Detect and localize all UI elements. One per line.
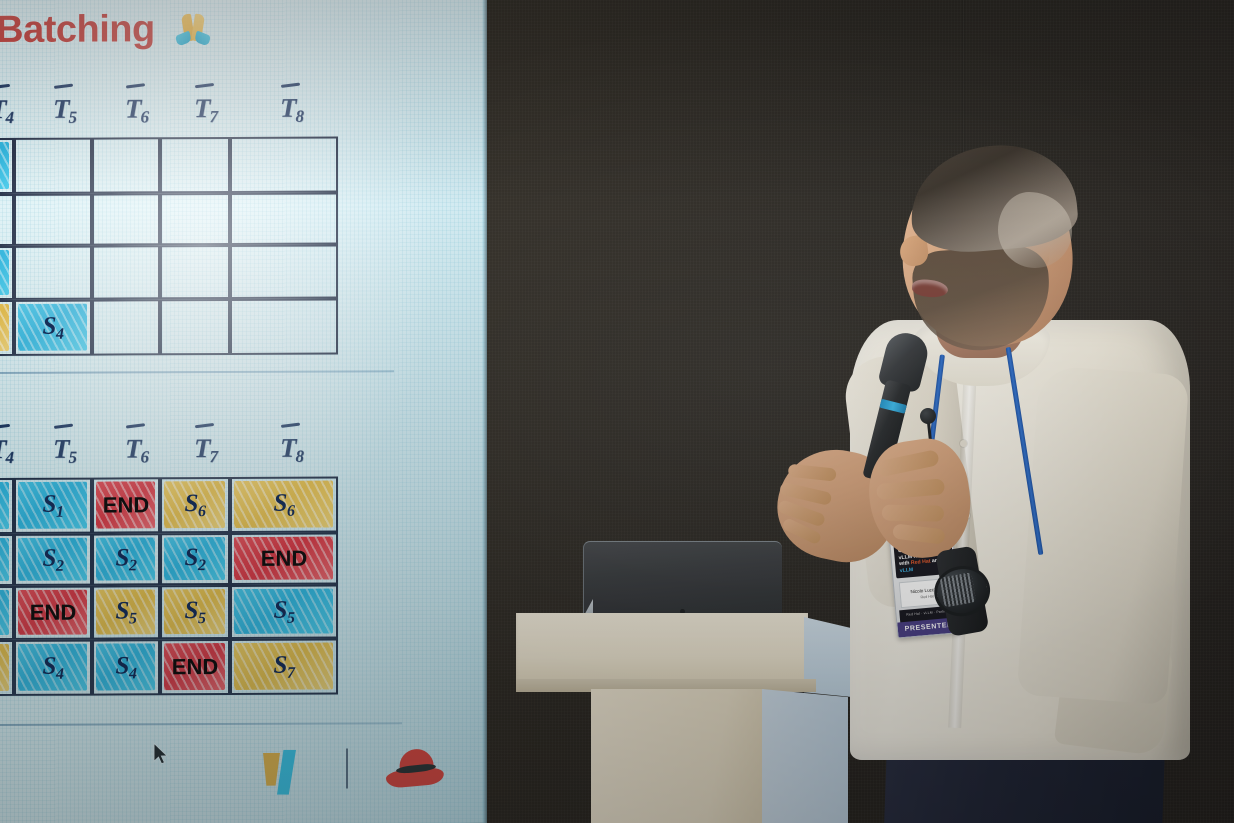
cell-label: S2: [185, 544, 206, 575]
top-table: S3 S4 S4: [0, 136, 372, 348]
cell-label: S4: [116, 652, 137, 683]
column-header-t5: T5: [53, 94, 77, 128]
table-cell: S4: [14, 300, 92, 356]
table-cell: S3: [0, 246, 14, 300]
cell-label: END: [103, 492, 149, 518]
slide-divider: [0, 370, 394, 374]
table-cell: [160, 245, 230, 299]
table-cell: S3: [0, 586, 14, 640]
cell-label: S6: [274, 489, 295, 520]
column-header-t8: T8: [280, 93, 304, 127]
praying-hands-icon: [173, 12, 213, 48]
table-cell: S2: [14, 534, 92, 586]
table-cell: S1: [14, 478, 92, 534]
projection-screen: ative Batching T4 T5 T6 T7 T8: [0, 0, 487, 823]
table-cell: S2: [0, 534, 14, 586]
table-cell: S6: [160, 477, 230, 533]
cell-label: END: [30, 600, 76, 626]
cell-label: S6: [185, 490, 206, 521]
table-cell: END: [230, 533, 338, 585]
column-header-t4: T4: [0, 94, 14, 128]
column-header-t6: T6: [125, 93, 149, 127]
table-cell: S4: [0, 300, 14, 356]
column-header-t6: T6: [125, 433, 149, 467]
column-header-t7: T7: [194, 433, 218, 467]
table-cell: [0, 478, 14, 534]
smartwatch: [922, 548, 1003, 631]
cell-label: S5: [116, 597, 137, 628]
presenter-laptop: [583, 541, 782, 619]
table-cell: [14, 138, 92, 194]
table-cell: [160, 193, 230, 245]
cell-label: S4: [43, 312, 64, 343]
screenshot-root: ative Batching T4 T5 T6 T7 T8: [0, 0, 1234, 823]
table-cell: [230, 193, 338, 245]
column-header-t8: T8: [280, 433, 304, 467]
cell-label: S2: [43, 544, 64, 575]
logo-separator: [346, 748, 348, 788]
table-cell: S4: [92, 639, 160, 695]
table-cell: [230, 299, 338, 355]
cell-label: S1: [43, 490, 64, 521]
table-cell: S6: [230, 477, 338, 533]
table-cell: [230, 245, 338, 299]
bottom-table-header-row: T4 T5 T6 T7 T8: [0, 432, 398, 478]
slide-title-text: ative Batching: [0, 8, 155, 51]
table-cell: S5: [160, 585, 230, 639]
top-table-header-row: T4 T5 T6 T7 T8: [0, 92, 398, 138]
cell-label: END: [261, 546, 307, 572]
table-cell: [92, 245, 160, 299]
table-cell: [14, 246, 92, 300]
table-cell: END: [14, 586, 92, 640]
table-cell: [230, 137, 338, 193]
table-cell: S5: [230, 585, 338, 639]
table-cell: S5: [92, 585, 160, 639]
table-cell: S7: [230, 639, 338, 695]
bottom-table: S1 END S6 S6 S2 S2 S2 S2 END S3 END S5 S…: [0, 476, 372, 693]
screen-right-edge: [483, 0, 487, 823]
cell-label: S7: [274, 651, 295, 682]
cell-label: S2: [116, 544, 137, 575]
cell-label: S5: [185, 597, 206, 628]
table-cell: S2: [92, 533, 160, 585]
cell-label: S4: [43, 652, 64, 683]
table-cell: [92, 193, 160, 245]
table-cell: [160, 299, 230, 355]
lapel-microphone-icon: [920, 408, 936, 424]
slide-title: ative Batching: [0, 8, 213, 52]
table-cell: [0, 194, 14, 246]
table-cell: [92, 137, 160, 193]
table-cell: [92, 299, 160, 355]
column-header-t4: T4: [0, 434, 14, 468]
vllm-logo-icon: [263, 753, 303, 795]
cell-label: END: [172, 654, 218, 680]
slide-footer-rule: [0, 722, 402, 726]
table-cell: [14, 194, 92, 246]
table-cell: S4: [14, 640, 92, 696]
table-cell: [0, 138, 14, 194]
column-header-t5: T5: [53, 434, 77, 468]
table-cell: END: [160, 639, 230, 695]
table-cell: [160, 137, 230, 193]
table-cell: S4: [0, 640, 14, 696]
cell-label: S5: [274, 596, 295, 627]
right-sleeve: [1017, 365, 1190, 705]
presenter-person: Our First vLLM Korea Meetup with Red Hat…: [760, 140, 1220, 823]
table-cell: S2: [160, 533, 230, 585]
table-cell: END: [92, 477, 160, 533]
mouse-pointer-icon: [153, 742, 169, 766]
red-hat-logo-icon: [386, 748, 444, 790]
column-header-t7: T7: [194, 93, 218, 127]
